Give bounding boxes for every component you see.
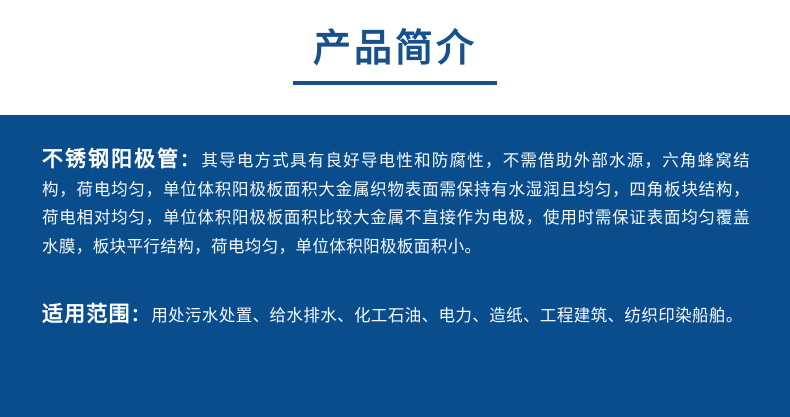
description-content: 不锈钢阳极管：其导电方式具有良好导电性和防腐性，不需借助外部水源，六角蜂窝结构，… bbox=[42, 145, 750, 331]
page-header: 产品简介 bbox=[0, 0, 790, 115]
page-title: 产品简介 bbox=[0, 24, 790, 72]
paragraph-colon-application-scope: ： bbox=[131, 305, 151, 326]
product-intro-page: 产品简介 不锈钢阳极管：其导电方式具有良好导电性和防腐性，不需借助外部水源，六角… bbox=[0, 0, 790, 417]
paragraph-colon-product-spec: ： bbox=[180, 150, 201, 171]
paragraph-product-spec: 不锈钢阳极管：其导电方式具有良好导电性和防腐性，不需借助外部水源，六角蜂窝结构，… bbox=[42, 145, 750, 261]
paragraph-application-scope: 适用范围：用处污水处置、给水排水、化工石油、电力、造纸、工程建筑、纺织印染船舶。 bbox=[42, 300, 750, 331]
description-band: 不锈钢阳极管：其导电方式具有良好导电性和防腐性，不需借助外部水源，六角蜂窝结构，… bbox=[0, 115, 790, 417]
paragraph-label-application-scope: 适用范围 bbox=[42, 302, 131, 326]
paragraph-body-application-scope: 用处污水处置、给水排水、化工石油、电力、造纸、工程建筑、纺织印染船舶。 bbox=[151, 306, 743, 325]
paragraph-label-product-spec: 不锈钢阳极管 bbox=[42, 147, 180, 171]
title-underline-divider bbox=[293, 81, 497, 85]
